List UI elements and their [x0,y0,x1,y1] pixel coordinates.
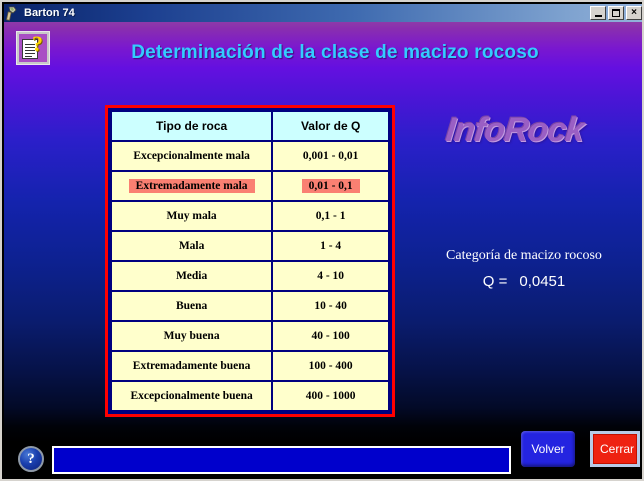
close-app-button[interactable]: Cerrar [593,434,637,464]
q-result: Q =0,0451 [404,273,644,290]
close-button-focus-ring: Cerrar [590,431,640,467]
table-row[interactable]: Mala1 - 4 [111,231,389,261]
cell-rock-type: Excepcionalmente buena [111,381,272,411]
table-row[interactable]: Media4 - 10 [111,261,389,291]
highlighted-rock-type: Extremadamente mala [129,179,255,193]
rock-class-table-container: Tipo de roca Valor de Q Excepcionalmente… [105,105,395,417]
application-window: Barton 74 × ? Determinación de la clase [0,0,644,481]
page-title: Determinación de la clase de macizo roco… [4,42,644,64]
column-header-rock-type: Tipo de roca [111,111,272,141]
inforock-logo: InfoRock [444,111,586,150]
title-bar[interactable]: Barton 74 × [4,4,644,22]
table-row[interactable]: Buena10 - 40 [111,291,389,321]
window-title: Barton 74 [24,7,75,19]
cell-q-value: 1 - 4 [272,231,389,261]
cell-q-value: 400 - 1000 [272,381,389,411]
cell-q-value: 0,001 - 0,01 [272,141,389,171]
rock-hammer-icon [5,5,21,21]
column-header-q-value: Valor de Q [272,111,389,141]
table-row[interactable]: Excepcionalmente buena400 - 1000 [111,381,389,411]
table-row[interactable]: Extremadamente buena100 - 400 [111,351,389,381]
table-header-row: Tipo de roca Valor de Q [111,111,389,141]
cell-q-value: 0,01 - 0,1 [272,171,389,201]
cell-rock-type: Buena [111,291,272,321]
client-area: ? Determinación de la clase de macizo ro… [4,22,644,479]
table-row[interactable]: Muy buena40 - 100 [111,321,389,351]
cell-rock-type: Mala [111,231,272,261]
highlighted-q-value: 0,01 - 0,1 [302,179,360,193]
minimize-button[interactable] [590,6,606,20]
cell-q-value: 100 - 400 [272,351,389,381]
maximize-button[interactable] [608,6,624,20]
cell-q-value: 10 - 40 [272,291,389,321]
close-icon: × [631,8,637,18]
cell-rock-type: Extremadamente buena [111,351,272,381]
category-label: Categoría de macizo rocoso [404,248,644,264]
table-row[interactable]: Muy mala0,1 - 1 [111,201,389,231]
cell-q-value: 4 - 10 [272,261,389,291]
cell-rock-type: Muy mala [111,201,272,231]
back-button[interactable]: Volver [521,431,575,467]
window-controls: × [590,6,644,20]
table-row[interactable]: Excepcionalmente mala0,001 - 0,01 [111,141,389,171]
cell-rock-type: Extremadamente mala [111,171,272,201]
rock-class-table: Tipo de roca Valor de Q Excepcionalmente… [110,110,390,412]
table-body: Excepcionalmente mala0,001 - 0,01Extrema… [111,141,389,411]
cell-rock-type: Excepcionalmente mala [111,141,272,171]
status-input[interactable] [52,446,511,474]
close-button[interactable]: × [626,6,642,20]
q-value: 0,0451 [519,273,565,290]
help-button[interactable]: ? [18,446,44,472]
cell-q-value: 40 - 100 [272,321,389,351]
cell-rock-type: Muy buena [111,321,272,351]
cell-rock-type: Media [111,261,272,291]
table-row[interactable]: Extremadamente mala0,01 - 0,1 [111,171,389,201]
q-symbol: Q = [483,273,508,290]
cell-q-value: 0,1 - 1 [272,201,389,231]
